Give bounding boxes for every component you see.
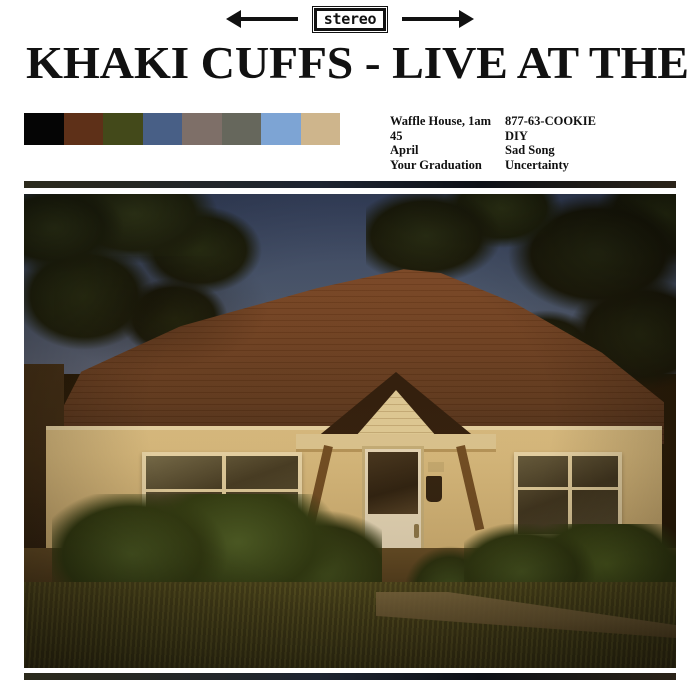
track-item: 877-63-COOKIE — [505, 114, 620, 129]
palette-swatch-mauve-gray — [182, 113, 222, 145]
right-arrow-icon — [402, 17, 460, 21]
palette-swatch-olive-green — [103, 113, 143, 145]
album-title: KHAKI CUFFS - LIVE AT THE TEMPLE — [26, 40, 699, 86]
palette-swatch-black — [24, 113, 64, 145]
door-handle — [414, 524, 419, 538]
track-listing: Waffle House, 1am 45 April Your Graduati… — [390, 114, 620, 172]
track-column-2: 877-63-COOKIE DIY Sad Song Uncertainty — [505, 114, 620, 172]
palette-swatch-rust-brown — [64, 113, 104, 145]
color-palette-bar — [24, 113, 340, 145]
palette-swatch-slate-blue — [143, 113, 183, 145]
track-item: DIY — [505, 129, 620, 144]
cover-photograph — [24, 194, 676, 668]
track-item: 45 — [390, 129, 505, 144]
palette-swatch-tan — [301, 113, 341, 145]
stereo-box: stereo — [314, 8, 386, 31]
track-item: Sad Song — [505, 143, 620, 158]
album-cover: stereo KHAKI CUFFS - LIVE AT THE TEMPLE … — [0, 0, 700, 700]
track-item: April — [390, 143, 505, 158]
track-item: Waffle House, 1am — [390, 114, 505, 129]
stereo-badge: stereo — [0, 6, 700, 32]
porch-lamp — [426, 476, 442, 502]
track-item: Uncertainty — [505, 158, 620, 173]
house-number-plate — [428, 462, 444, 472]
photo-strip-top — [24, 181, 676, 188]
palette-swatch-sky-blue — [261, 113, 301, 145]
left-arrow-icon — [240, 17, 298, 21]
stereo-label: stereo — [324, 11, 376, 27]
photo-strip-bottom — [24, 673, 676, 680]
track-column-1: Waffle House, 1am 45 April Your Graduati… — [390, 114, 505, 172]
roof-shadow — [54, 256, 354, 406]
palette-swatch-gray-olive — [222, 113, 262, 145]
track-item: Your Graduation — [390, 158, 505, 173]
